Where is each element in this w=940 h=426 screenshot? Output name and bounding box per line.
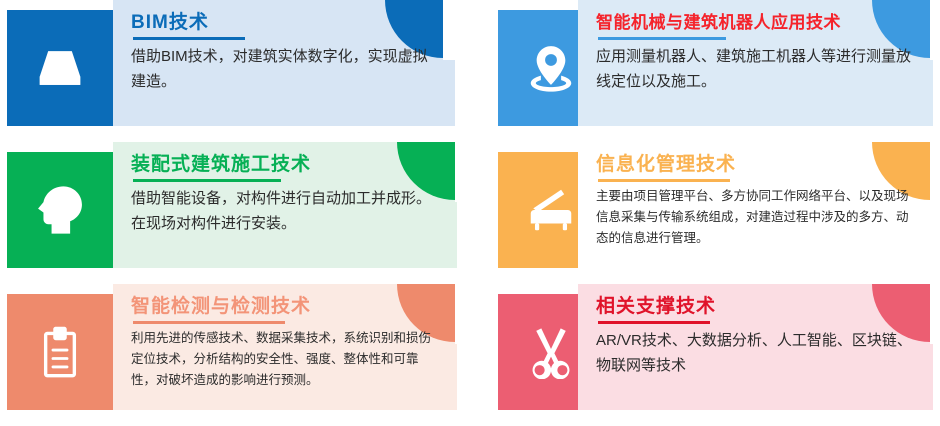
tech-card-informatization[interactable]: 信息化管理技术主要由项目管理平台、多方协同工作网络平台、以及现场信息采集与传输系…: [478, 142, 933, 284]
card-title: 信息化管理技术: [596, 152, 916, 178]
card-title-rule: [598, 179, 730, 182]
scissors-icon: [498, 294, 604, 410]
card-title-rule: [133, 179, 281, 182]
card-panel: 相关支撑技术AR/VR技术、大数据分析、人工智能、区块链、物联网等技术: [578, 284, 930, 410]
card-title: 装配式建筑施工技术: [131, 152, 441, 178]
card-panel: 智能机械与建筑机器人应用技术应用测量机器人、建筑施工机器人等进行测量放线定位以及…: [578, 0, 930, 126]
card-title-rule: [598, 321, 710, 324]
card-panel: 信息化管理技术主要由项目管理平台、多方协同工作网络平台、以及现场信息采集与传输系…: [578, 142, 930, 268]
card-title-rule: [598, 37, 726, 40]
tech-card-support[interactable]: 相关支撑技术AR/VR技术、大数据分析、人工智能、区块链、物联网等技术: [478, 284, 933, 426]
card-title: 相关支撑技术: [596, 294, 916, 320]
card-description: 应用测量机器人、建筑施工机器人等进行测量放线定位以及施工。: [596, 44, 916, 94]
card-panel: 装配式建筑施工技术借助智能设备，对构件进行自动加工并成形。在现场对构件进行安装。: [113, 142, 455, 268]
card-title: BIM技术: [131, 10, 429, 36]
card-title: 智能检测与检测技术: [131, 294, 441, 320]
card-description: AR/VR技术、大数据分析、人工智能、区块链、物联网等技术: [596, 328, 916, 378]
card-title: 智能机械与建筑机器人应用技术: [596, 10, 916, 36]
inbox-tray-icon: [7, 10, 113, 126]
card-description: 借助智能设备，对构件进行自动加工并成形。在现场对构件进行安装。: [131, 186, 441, 236]
tech-card-prefab[interactable]: 装配式建筑施工技术借助智能设备，对构件进行自动加工并成形。在现场对构件进行安装。: [0, 142, 455, 284]
card-description: 主要由项目管理平台、多方协同工作网络平台、以及现场信息采集与传输系统组成，对建造…: [596, 186, 916, 249]
card-title-rule: [133, 37, 245, 40]
scanner-icon: [498, 152, 604, 268]
technology-card-grid: BIM技术借助BIM技术，对建筑实体数字化，实现虚拟建造。智能机械与建筑机器人应…: [0, 0, 940, 426]
clipboard-icon: [7, 294, 113, 410]
card-panel: BIM技术借助BIM技术，对建筑实体数字化，实现虚拟建造。: [113, 0, 443, 126]
tech-card-bim[interactable]: BIM技术借助BIM技术，对建筑实体数字化，实现虚拟建造。: [0, 0, 455, 142]
card-title-rule: [133, 321, 285, 324]
card-description: 借助BIM技术，对建筑实体数字化，实现虚拟建造。: [131, 44, 429, 94]
smart-head-bolt-icon: [7, 152, 113, 268]
card-panel: 智能检测与检测技术利用先进的传感技术、数据采集技术，系统识别和损伤定位技术，分析…: [113, 284, 455, 410]
map-pin-icon: [498, 10, 604, 126]
tech-card-robotics[interactable]: 智能机械与建筑机器人应用技术应用测量机器人、建筑施工机器人等进行测量放线定位以及…: [478, 0, 933, 142]
tech-card-inspection[interactable]: 智能检测与检测技术利用先进的传感技术、数据采集技术，系统识别和损伤定位技术，分析…: [0, 284, 455, 426]
card-description: 利用先进的传感技术、数据采集技术，系统识别和损伤定位技术，分析结构的安全性、强度…: [131, 328, 441, 391]
